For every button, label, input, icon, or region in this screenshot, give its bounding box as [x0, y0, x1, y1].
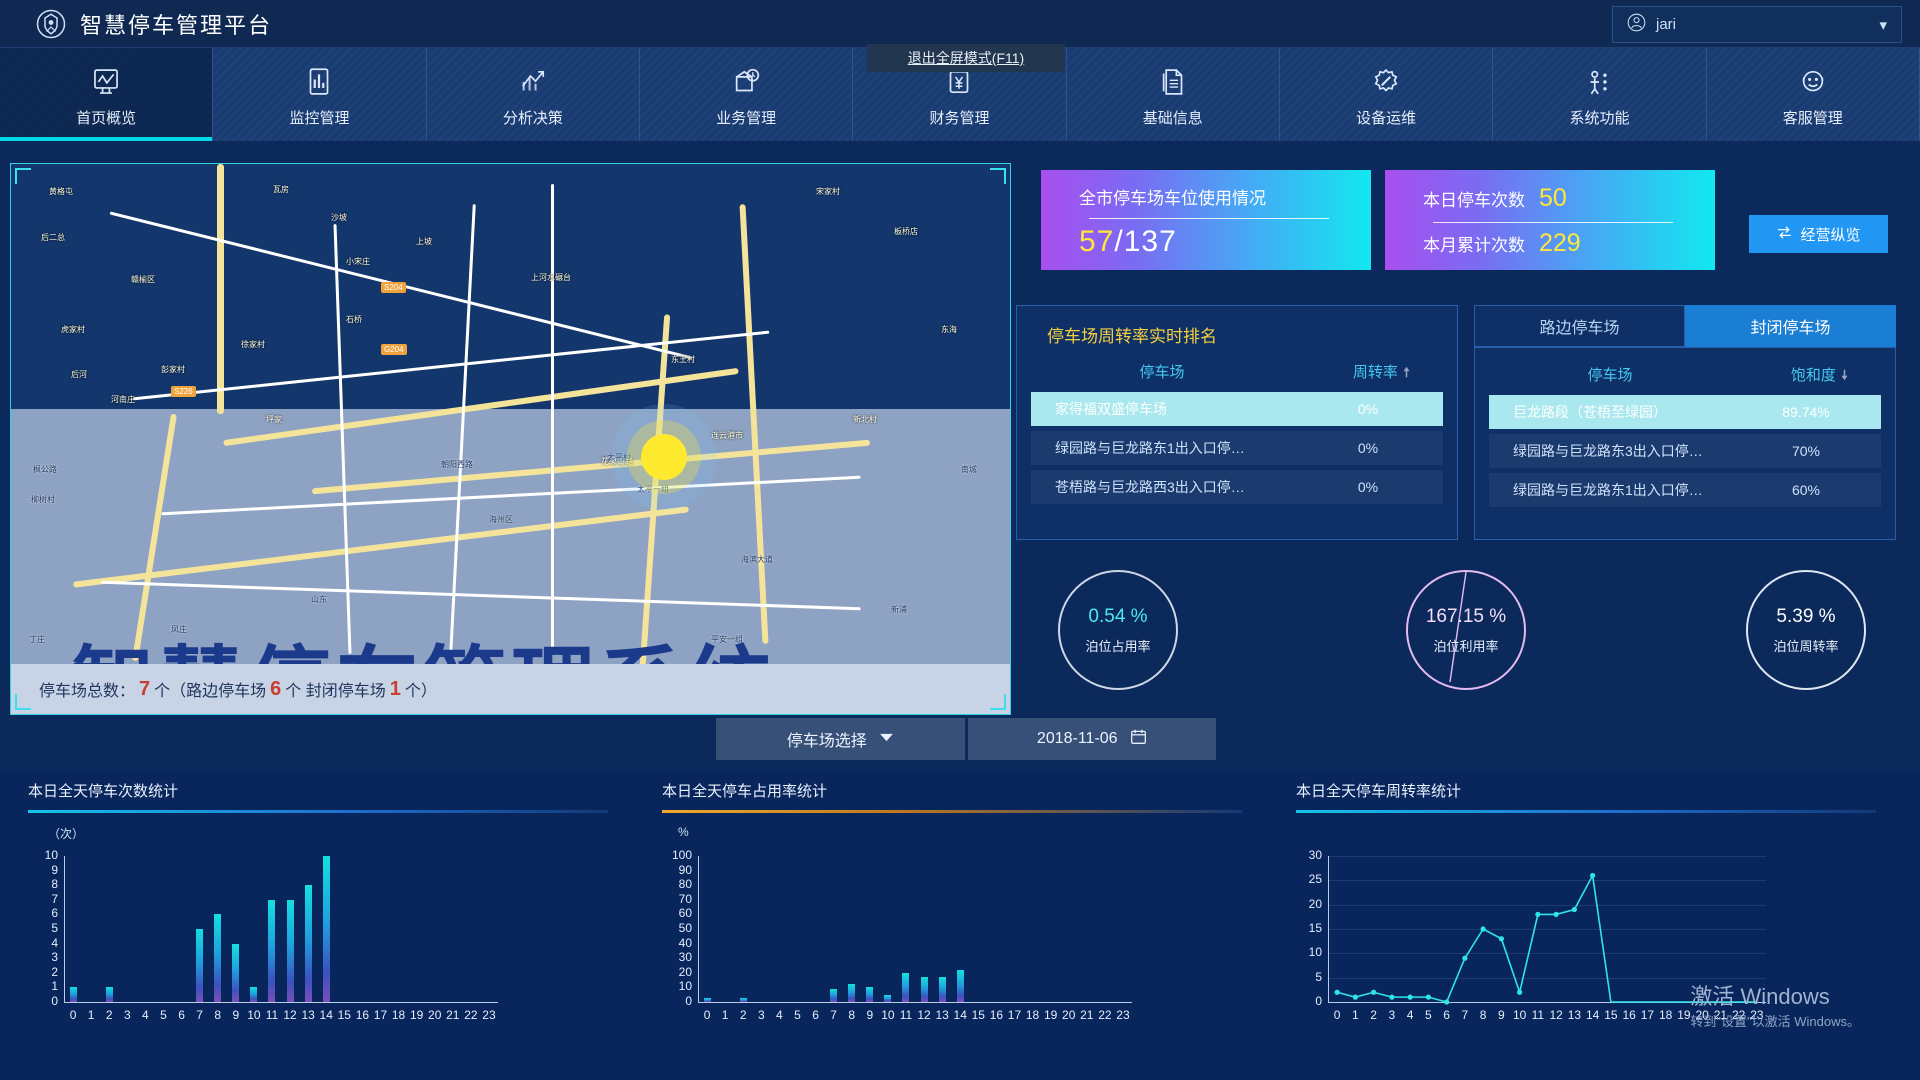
lot-rate: 0% [1293, 401, 1443, 417]
user-menu[interactable]: jari ▾ [1612, 6, 1902, 43]
chart-divider [662, 810, 1242, 813]
x-axis-tick: 16 [987, 1008, 1005, 1022]
gauge-turnover: 5.39 % 泊位周转率 [1746, 570, 1866, 690]
lot-rate: 89.74% [1731, 404, 1881, 420]
kpi-row-month: 本月累计次数 229 [1423, 229, 1715, 258]
map-label: 柳树村 [31, 494, 55, 505]
x-axis-tick: 17 [371, 1008, 389, 1022]
y-axis-line [64, 856, 65, 1002]
y-axis-tick: 90 [666, 863, 692, 877]
tab-roadside[interactable]: 路边停车场 [1474, 305, 1685, 347]
y-axis-tick: 10 [32, 848, 58, 862]
clipboard-clock-icon [729, 61, 763, 99]
map-label: 朝阳西路 [441, 459, 473, 470]
x-axis-tick: 23 [1114, 1008, 1132, 1022]
bar[interactable] [939, 977, 946, 1002]
chart-turnover-rate: 本日全天停车周转率统计 0510152025300123456789101112… [1286, 770, 1906, 1080]
map-road [217, 164, 224, 414]
bar[interactable] [848, 984, 855, 1002]
kpi-value: 57/137 [1079, 225, 1371, 259]
gauge-value: 5.39 % [1746, 606, 1866, 628]
nav-label: 分析决策 [503, 107, 563, 128]
x-axis-tick: 14 [317, 1008, 335, 1022]
chevron-down-icon[interactable]: ▾ [1879, 16, 1887, 34]
y-axis-tick: 2 [32, 965, 58, 979]
bar[interactable] [957, 970, 964, 1002]
gauge-ring [1746, 570, 1866, 690]
x-axis-tick: 11 [263, 1008, 281, 1022]
x-axis-tick: 2 [734, 1008, 752, 1022]
map-summary-bar: 停车场总数： 7 个（路边停车场 6 个 封闭停车场 1 个） [11, 664, 1010, 714]
y-axis-tick: 50 [666, 921, 692, 935]
parking-type-tabs: 路边停车场 封闭停车场 [1474, 305, 1896, 347]
x-axis-tick: 14 [951, 1008, 969, 1022]
x-axis-tick: 15 [335, 1008, 353, 1022]
x-axis-tick: 9 [861, 1008, 879, 1022]
kpi-row-today: 本日停车次数 50 [1423, 184, 1715, 213]
table-row[interactable]: 绿园路与巨龙路东1出入口停… 0% [1031, 431, 1443, 465]
y-axis-tick: 3 [32, 950, 58, 964]
y-axis-tick: 0 [32, 994, 58, 1008]
x-axis-tick: 9 [227, 1008, 245, 1022]
chart-divider [1296, 810, 1876, 813]
table-header: 停车场 饱和度 [1475, 348, 1895, 395]
nav-item-analysis[interactable]: 分析决策 [427, 48, 640, 141]
summary-total: 7 [135, 678, 154, 701]
table-row[interactable]: 绿园路与巨龙路东3出入口停… 70% [1489, 434, 1881, 468]
nav-label: 业务管理 [716, 107, 776, 128]
x-axis-tick: 13 [933, 1008, 951, 1022]
exchange-arrows-icon [1776, 224, 1793, 245]
table-row[interactable]: 绿园路与巨龙路东1出入口停… 60% [1489, 473, 1881, 507]
kpi-label: 本日停车次数 [1423, 186, 1525, 211]
kpi-value: 229 [1539, 229, 1581, 258]
gear-wrench-icon [1369, 61, 1403, 99]
tab-closed[interactable]: 封闭停车场 [1685, 305, 1896, 347]
y-axis-tick: 7 [32, 892, 58, 906]
turnover-ranking-panel: 停车场周转率实时排名 停车场 周转率 家得福双盛停车场 0% 绿园路与巨龙路东1… [1016, 305, 1458, 540]
column-header-rate[interactable]: 饱和度 [1745, 364, 1895, 385]
y-axis-tick: 20 [666, 965, 692, 979]
kpi-divider [1433, 222, 1673, 223]
kpi-separator: / [1114, 225, 1123, 258]
map-label: 小宋庄 [346, 256, 370, 267]
x-axis-tick: 2 [100, 1008, 118, 1022]
police-badge-icon [36, 9, 66, 39]
chart-plot-area: 0123456789100123456789101112131415161718… [18, 848, 638, 1028]
bar[interactable] [106, 987, 113, 1002]
x-axis-tick: 20 [1060, 1008, 1078, 1022]
nav-label: 财务管理 [929, 107, 989, 128]
x-axis-line [698, 1002, 1132, 1003]
x-axis-tick: 10 [245, 1008, 263, 1022]
y-axis-tick: 70 [666, 892, 692, 906]
summary-unit3: 个） [405, 677, 437, 701]
gauge-label: 泊位利用率 [1406, 636, 1526, 655]
lot-name: 绿园路与巨龙路东3出入口停… [1489, 441, 1731, 461]
panel-title: 停车场周转率实时排名 [1017, 306, 1457, 347]
nav-item-customer-service[interactable]: 客服管理 [1707, 48, 1920, 141]
gauge-label: 泊位占用率 [1058, 636, 1178, 655]
y-axis-tick: 4 [32, 936, 58, 950]
lot-rate: 70% [1731, 443, 1881, 459]
bar[interactable] [70, 987, 77, 1002]
lot-name: 苍梧路与巨龙路西3出入口停… [1031, 477, 1293, 497]
x-axis-tick: 12 [915, 1008, 933, 1022]
fullscreen-tooltip: 退出全屏模式(F11) [867, 44, 1065, 72]
gauge-utilization: 167.15 % 泊位利用率 [1406, 570, 1526, 690]
app-header: 智慧停车管理平台 jari ▾ [0, 0, 1920, 48]
gauge-label: 泊位周转率 [1746, 636, 1866, 655]
map-road [551, 184, 554, 654]
bar[interactable] [196, 929, 203, 1002]
x-axis-tick: 5 [788, 1008, 806, 1022]
x-axis-tick: 17 [1005, 1008, 1023, 1022]
app-title: 智慧停车管理平台 [80, 8, 272, 40]
trend-chart-icon [516, 61, 550, 99]
chart-parking-counts: 本日全天停车次数统计 （次） 0123456789100123456789101… [18, 770, 638, 1080]
bar[interactable] [268, 900, 275, 1002]
x-axis-tick: 0 [698, 1008, 716, 1022]
windows-activation-watermark: 激活 Windows 转到"设置"以激活 Windows。 [1690, 979, 1860, 1030]
route-shield: S204 [381, 282, 406, 293]
calendar-icon [1130, 728, 1147, 750]
x-axis-tick: 1 [716, 1008, 734, 1022]
x-axis-tick: 23 [480, 1008, 498, 1022]
x-axis-tick: 7 [191, 1008, 209, 1022]
summary-closed: 1 [386, 678, 405, 701]
lot-rate: 60% [1731, 482, 1881, 498]
parking-lot-select[interactable]: 停车场选择 [716, 718, 965, 760]
nav-item-business[interactable]: 业务管理 [640, 48, 853, 141]
map-label: 板桥店 [894, 226, 918, 237]
gauge-ring [1058, 570, 1178, 690]
corner-accent [15, 168, 31, 184]
nav-label: 基础信息 [1143, 107, 1203, 128]
x-axis-tick: 6 [173, 1008, 191, 1022]
city-map[interactable]: S204 G204 S226 黄格屯 瓦房 后二总 沙坡 小宋庄 上坡 宋家村 … [11, 164, 1010, 664]
map-label: 东王村 [671, 354, 695, 365]
people-settings-icon [1582, 61, 1616, 99]
x-axis-tick: 5 [154, 1008, 172, 1022]
map-label: 上坡 [416, 236, 432, 247]
y-axis-tick: 80 [666, 877, 692, 891]
y-axis-tick: 40 [666, 936, 692, 950]
x-axis-tick: 15 [969, 1008, 987, 1022]
x-axis-tick: 4 [770, 1008, 788, 1022]
chart-y-unit: % [678, 825, 689, 839]
map-label: 后二总 [41, 232, 65, 243]
map-label: 东海 [941, 324, 957, 335]
bar[interactable] [884, 995, 891, 1002]
map-label: 太平一组 [637, 484, 669, 495]
map-label: 瓦房 [273, 184, 289, 195]
summary-unit2: 个 封闭停车场 [285, 677, 385, 701]
summary-unit1: 个（路边停车场 [154, 677, 266, 701]
y-axis-tick: 30 [666, 950, 692, 964]
bar[interactable] [740, 998, 747, 1002]
x-axis-tick: 8 [843, 1008, 861, 1022]
kpi-total: 137 [1124, 225, 1177, 258]
bar[interactable] [287, 900, 294, 1002]
date-value: 2018-11-06 [1037, 730, 1118, 748]
bar[interactable] [232, 944, 239, 1002]
x-axis-tick: 18 [1024, 1008, 1042, 1022]
date-picker[interactable]: 2018-11-06 [968, 718, 1217, 760]
gauge-group: 0.54 % 泊位占用率 167.15 % 泊位利用率 5.39 % 泊位周转率 [1016, 560, 1896, 700]
kpi-divider [1089, 218, 1329, 219]
bar[interactable] [305, 885, 312, 1002]
column-header-name: 停车场 [1017, 361, 1307, 382]
sort-asc-arrow-icon [1402, 366, 1411, 378]
y-axis-tick: 5 [32, 921, 58, 935]
map-label: 新浦 [891, 604, 907, 615]
x-axis-tick: 22 [462, 1008, 480, 1022]
kpi-title: 全市停车场车位使用情况 [1079, 184, 1371, 209]
overview-button-label: 经营纵览 [1800, 224, 1860, 245]
x-axis-tick: 3 [118, 1008, 136, 1022]
gauge-needle [1406, 570, 1526, 690]
bar[interactable] [921, 977, 928, 1002]
map-label: 河南庄 [111, 394, 135, 405]
map-label: 彭家村 [161, 364, 185, 375]
lot-name: 绿园路与巨龙路东1出入口停… [1489, 480, 1731, 500]
x-axis-tick: 12 [281, 1008, 299, 1022]
map-label: 黄格屯 [49, 186, 73, 197]
map-label: 赣榆区 [131, 274, 155, 285]
corner-accent [15, 694, 31, 710]
map-hotspot-marker[interactable] [641, 434, 687, 480]
user-name: jari [1656, 16, 1869, 33]
gauge-value: 167.15 % [1406, 606, 1526, 628]
documents-icon [1156, 61, 1190, 99]
map-label: 山东 [311, 594, 327, 605]
map-label: 坪家 [266, 414, 282, 425]
map-label: 连云港市 [711, 430, 743, 441]
chart-title: 本日全天停车次数统计 [18, 770, 638, 801]
x-axis-tick: 0 [64, 1008, 82, 1022]
chart-title: 本日全天停车周转率统计 [1286, 770, 1906, 801]
x-axis-tick: 18 [390, 1008, 408, 1022]
nav-label: 设备运维 [1356, 107, 1416, 128]
map-label: 石桥 [346, 314, 362, 325]
user-avatar-icon [1627, 13, 1646, 37]
lot-rate: 0% [1293, 440, 1443, 456]
gauge-value: 0.54 % [1058, 606, 1178, 628]
brand: 智慧停车管理平台 [0, 8, 272, 40]
table-header: 停车场 周转率 [1017, 347, 1457, 392]
x-axis-tick: 20 [426, 1008, 444, 1022]
y-axis-tick: 100 [666, 848, 692, 862]
bar[interactable] [704, 998, 711, 1002]
map-label: 宋家村 [816, 186, 840, 197]
kpi-card-citywide-usage: 全市停车场车位使用情况 57/137 [1041, 170, 1371, 270]
parking-lot-select-label: 停车场选择 [787, 727, 867, 751]
kpi-card-today-counts: 本日停车次数 50 本月累计次数 229 [1385, 170, 1715, 270]
map-label: 徐家村 [241, 339, 265, 350]
table-row[interactable]: 巨龙路段（苍梧至绿园） 89.74% [1489, 395, 1881, 429]
chart-y-unit: （次） [48, 825, 84, 842]
x-axis-tick: 1 [82, 1008, 100, 1022]
y-axis-tick: 0 [666, 994, 692, 1008]
y-axis-tick: 8 [32, 877, 58, 891]
chart-plot-area: 0102030405060708090100012345678910111213… [652, 848, 1272, 1028]
map-label: 上河水碾台 [531, 272, 571, 283]
sort-desc-arrow-icon [1840, 369, 1849, 381]
map-label: 虎家村 [61, 324, 85, 335]
y-axis-tick: 10 [666, 979, 692, 993]
map-label: 海州区 [489, 514, 513, 525]
bottom-charts: 本日全天停车次数统计 （次） 0123456789100123456789101… [0, 770, 1920, 1080]
kpi-used: 57 [1079, 225, 1114, 258]
map-label: 南城 [961, 464, 977, 475]
x-axis-tick: 6 [807, 1008, 825, 1022]
corner-accent [990, 694, 1006, 710]
nav-item-system[interactable]: 系统功能 [1493, 48, 1706, 141]
summary-prefix: 停车场总数： [39, 677, 135, 701]
table-row[interactable]: 家得福双盛停车场 0% [1031, 392, 1443, 426]
nav-item-device-ops[interactable]: 设备运维 [1280, 48, 1493, 141]
lot-name: 家得福双盛停车场 [1031, 399, 1293, 419]
column-header-rate[interactable]: 周转率 [1307, 361, 1457, 382]
x-axis-tick: 19 [1042, 1008, 1060, 1022]
nav-label: 监控管理 [289, 107, 349, 128]
map-label: 枫公路 [33, 464, 57, 475]
x-axis-tick: 16 [353, 1008, 371, 1022]
lot-name: 巨龙路段（苍梧至绿园） [1489, 402, 1731, 422]
bar-chart-doc-icon [302, 61, 336, 99]
x-axis-tick: 21 [444, 1008, 462, 1022]
monitor-chart-icon [89, 61, 123, 99]
map-label: 丁庄 [29, 634, 45, 645]
nav-label: 客服管理 [1783, 107, 1843, 128]
map-label: 沙坡 [331, 212, 347, 223]
route-shield: S226 [171, 386, 196, 397]
x-axis-tick: 21 [1078, 1008, 1096, 1022]
activation-subtitle: 转到"设置"以激活 Windows。 [1690, 1011, 1860, 1030]
map-label: 海滨大道 [741, 554, 773, 565]
bar[interactable] [902, 973, 909, 1002]
nav-item-basic-info[interactable]: 基础信息 [1067, 48, 1280, 141]
map-label: 新北村 [853, 414, 877, 425]
y-axis-tick: 6 [32, 906, 58, 920]
saturation-ranking-panel: 停车场 饱和度 巨龙路段（苍梧至绿园） 89.74% 绿园路与巨龙路东3出入口停… [1474, 347, 1896, 540]
map-label: 太平村 [607, 452, 631, 463]
chart-title: 本日全天停车占用率统计 [652, 770, 1272, 801]
x-axis-line [64, 1002, 498, 1003]
tooltip-text: 退出全屏模式(F11) [908, 48, 1024, 68]
lot-name: 绿园路与巨龙路东1出入口停… [1031, 438, 1293, 458]
lot-rate: 0% [1293, 479, 1443, 495]
column-header-name: 停车场 [1475, 364, 1745, 385]
bar[interactable] [830, 989, 837, 1002]
x-axis-tick: 10 [879, 1008, 897, 1022]
business-overview-button[interactable]: 经营纵览 [1749, 215, 1888, 253]
x-axis-tick: 22 [1096, 1008, 1114, 1022]
corner-accent [990, 168, 1006, 184]
x-axis-tick: 3 [752, 1008, 770, 1022]
route-shield: G204 [381, 344, 407, 355]
y-axis-tick: 60 [666, 906, 692, 920]
x-axis-tick: 13 [299, 1008, 317, 1022]
x-axis-tick: 4 [136, 1008, 154, 1022]
kpi-value: 50 [1539, 184, 1567, 213]
y-axis-line [698, 856, 699, 1002]
nav-item-monitoring[interactable]: 监控管理 [213, 48, 426, 141]
headset-support-icon [1796, 61, 1830, 99]
chart-divider [28, 810, 608, 813]
x-axis-tick: 11 [897, 1008, 915, 1022]
x-axis-tick: 19 [408, 1008, 426, 1022]
kpi-label: 本月累计次数 [1423, 231, 1525, 256]
activation-title: 激活 Windows [1690, 979, 1860, 1011]
summary-roadside: 6 [266, 678, 285, 701]
bar[interactable] [250, 987, 257, 1002]
bar[interactable] [323, 856, 330, 1002]
table-row[interactable]: 苍梧路与巨龙路西3出入口停… 0% [1031, 470, 1443, 504]
y-axis-tick: 1 [32, 979, 58, 993]
filter-bar: 停车场选择 2018-11-06 [716, 718, 1216, 760]
chart-occupancy-rate: 本日全天停车占用率统计 % 01020304050607080901000123… [652, 770, 1272, 1080]
gauge-occupancy: 0.54 % 泊位占用率 [1058, 570, 1178, 690]
map-panel[interactable]: S204 G204 S226 黄格屯 瓦房 后二总 沙坡 小宋庄 上坡 宋家村 … [10, 163, 1011, 715]
nav-label: 首页概览 [76, 107, 136, 128]
x-axis-tick: 7 [825, 1008, 843, 1022]
bar[interactable] [866, 987, 873, 1002]
map-label: 后河 [71, 369, 87, 380]
y-axis-tick: 9 [32, 863, 58, 877]
chevron-down-icon [879, 730, 894, 748]
nav-label: 系统功能 [1569, 107, 1629, 128]
nav-item-overview[interactable]: 首页概览 [0, 48, 213, 141]
x-axis-tick: 8 [209, 1008, 227, 1022]
bar[interactable] [214, 914, 221, 1002]
